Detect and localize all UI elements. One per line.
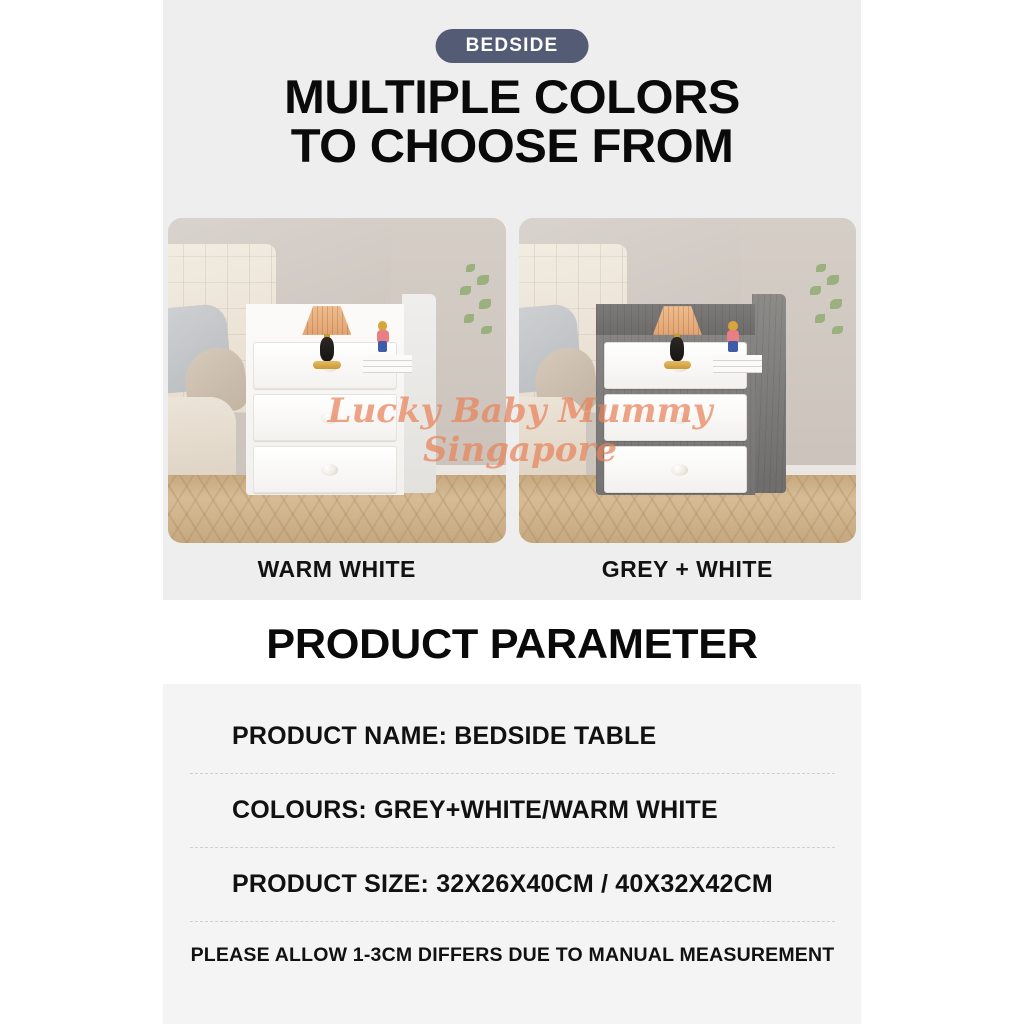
nightstand-warm-white xyxy=(246,290,435,498)
lamp-shade xyxy=(302,306,351,335)
nightstand-side-panel xyxy=(752,294,786,494)
nightstand-grey-white xyxy=(596,290,785,498)
headline-line-1: MULTIPLE COLORS xyxy=(0,72,1024,121)
page-title: MULTIPLE COLORS TO CHOOSE FROM xyxy=(0,72,1024,171)
nightstand-side-panel xyxy=(402,294,436,494)
lamp-shade xyxy=(653,306,702,335)
plant-branch-icon xyxy=(441,257,502,368)
drawer-knob-icon xyxy=(321,464,338,476)
table-lamp-icon xyxy=(302,306,351,368)
color-label-row: WARM WHITE GREY + WHITE xyxy=(168,556,856,583)
spec-row-product-size: PRODUCT SIZE: 32X26X40CM / 40X32X42CM xyxy=(190,848,835,921)
stacked-books-icon xyxy=(713,354,762,373)
spec-row-product-name: PRODUCT NAME: BEDSIDE TABLE xyxy=(190,700,835,773)
lamp-body xyxy=(320,337,334,361)
spec-row-colours: COLOURS: GREY+WHITE/WARM WHITE xyxy=(190,774,835,847)
astronaut-figurine-icon xyxy=(374,321,391,354)
headline-line-2: TO CHOOSE FROM xyxy=(0,121,1024,170)
lamp-base xyxy=(664,361,692,368)
drawer-2 xyxy=(253,394,397,442)
drawer-knob-icon xyxy=(321,412,338,424)
category-badge: BEDSIDE xyxy=(436,29,589,63)
drawer-3 xyxy=(253,446,397,494)
plant-branch-icon xyxy=(792,257,853,368)
drawer-3 xyxy=(604,446,748,494)
product-photo-warm-white[interactable] xyxy=(168,218,506,543)
drawer-2 xyxy=(604,394,748,442)
section-title-product-parameter: PRODUCT PARAMETER xyxy=(0,620,1024,668)
lamp-body xyxy=(670,337,684,361)
figurine-legs xyxy=(378,341,388,352)
spec-table: PRODUCT NAME: BEDSIDE TABLE COLOURS: GRE… xyxy=(190,700,835,967)
color-gallery xyxy=(168,218,856,543)
astronaut-figurine-icon xyxy=(725,321,742,354)
color-label-grey-white: GREY + WHITE xyxy=(519,556,857,583)
color-label-warm-white: WARM WHITE xyxy=(168,556,506,583)
table-lamp-icon xyxy=(653,306,702,368)
figurine-legs xyxy=(728,341,738,352)
product-photo-grey-white[interactable] xyxy=(519,218,857,543)
spec-measurement-note: PLEASE ALLOW 1-3CM DIFFERS DUE TO MANUAL… xyxy=(190,922,835,967)
drawer-knob-icon xyxy=(671,464,688,476)
drawer-knob-icon xyxy=(671,412,688,424)
lamp-base xyxy=(313,361,341,368)
stacked-books-icon xyxy=(363,354,412,373)
product-listing-page: BEDSIDE MULTIPLE COLORS TO CHOOSE FROM xyxy=(0,0,1024,1024)
